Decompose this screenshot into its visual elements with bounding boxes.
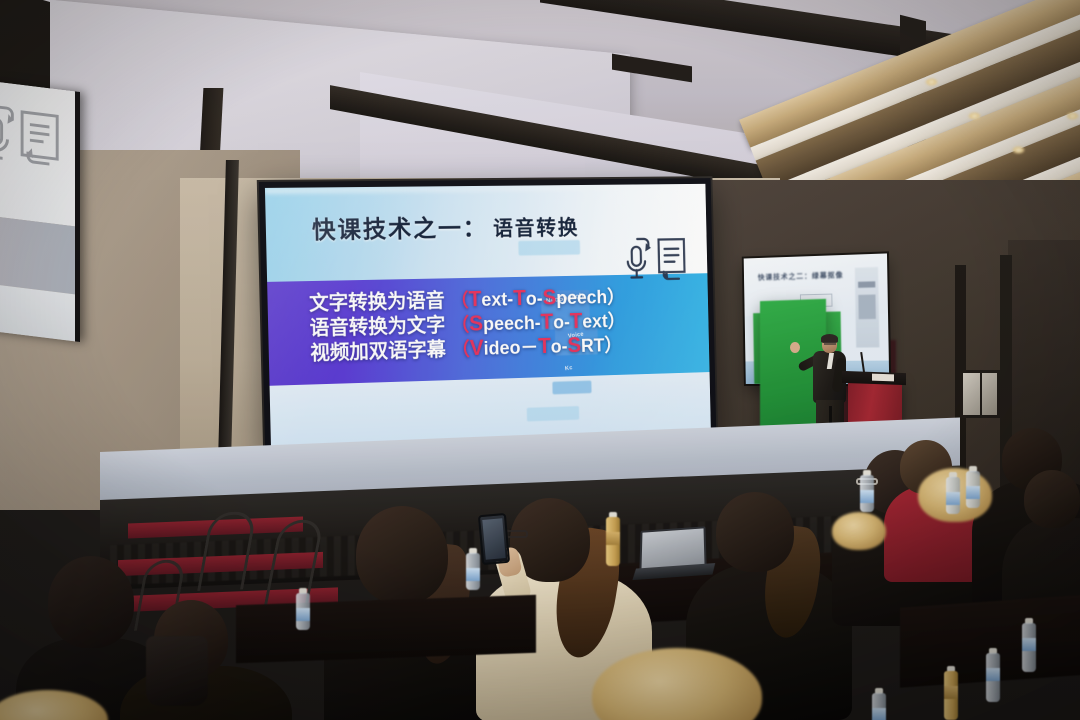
downlight-icon	[925, 78, 938, 86]
downlight-icon	[1066, 112, 1079, 120]
left-projection-screen: ch) xt) )	[0, 79, 80, 342]
main-projection-screen: 快课技术之一：语音转换	[259, 178, 717, 454]
audience-head	[48, 556, 134, 648]
slide-chip	[526, 406, 578, 421]
slide-line-cn: 文字转换为语音	[309, 288, 445, 315]
slide-line-en: （Video－To-SRT）	[451, 335, 622, 360]
slide-line-cn: 视频加双语字幕	[310, 337, 446, 364]
bottle-label	[986, 668, 1000, 681]
audience-head	[1024, 470, 1080, 528]
microphone-document-conversion-icon	[0, 99, 65, 209]
water-bottle	[872, 688, 886, 720]
conference-photo-scene: ch) xt) ) 快课技术之一：语音转换	[0, 0, 1080, 720]
water-bottle	[986, 648, 1000, 702]
thermos-bottle	[944, 666, 958, 720]
wall-service-window	[960, 370, 1000, 418]
slide-title-primary: 快课技术之一：	[312, 215, 488, 245]
slide-title-secondary: 语音转换	[493, 216, 580, 240]
left-screen-band	[0, 214, 80, 295]
laptop	[639, 526, 706, 570]
water-bottle	[860, 470, 874, 512]
water-bottle	[296, 588, 310, 630]
secondary-slide-sidebar	[855, 267, 880, 348]
bottle-label	[946, 492, 960, 505]
bottle-label	[860, 490, 874, 503]
audience-head	[356, 506, 448, 604]
downlight-icon	[1012, 146, 1025, 154]
bottle-label	[944, 686, 958, 699]
handbag	[146, 636, 208, 706]
water-bottle	[946, 472, 960, 514]
water-bottle	[1022, 618, 1036, 672]
slide-line-en: （Text-To-Speech）	[450, 287, 625, 311]
lectern-notes	[872, 374, 894, 382]
slide-chip	[518, 240, 580, 256]
main-screen-surface: 快课技术之一：语音转换	[265, 184, 711, 448]
bottle-label	[872, 708, 886, 720]
bottle-label	[466, 568, 480, 581]
microphone-document-conversion-icon	[624, 234, 691, 294]
water-bottle	[466, 548, 480, 590]
slide-body-lines: 文字转换为语音（Text-To-Speech） 语音转换为文字（Speech-T…	[309, 284, 626, 365]
bottle-label	[296, 608, 310, 621]
thermos-bottle	[606, 512, 620, 566]
presenter-hand	[790, 342, 800, 353]
slide-line-cn: 语音转换为文字	[309, 313, 445, 340]
slide-chip	[552, 380, 591, 394]
bottle-label	[1022, 638, 1036, 651]
bottle-label	[606, 532, 620, 545]
fur-collar	[832, 512, 886, 550]
smartphone	[478, 513, 510, 565]
audience-head	[716, 492, 794, 572]
presenter-glasses	[824, 342, 836, 345]
downlight-icon	[968, 112, 981, 120]
audience-table	[236, 595, 536, 663]
presentation-slide: 快课技术之一：语音转换	[265, 184, 711, 448]
water-bottle	[966, 466, 980, 508]
bottle-label	[966, 486, 980, 499]
